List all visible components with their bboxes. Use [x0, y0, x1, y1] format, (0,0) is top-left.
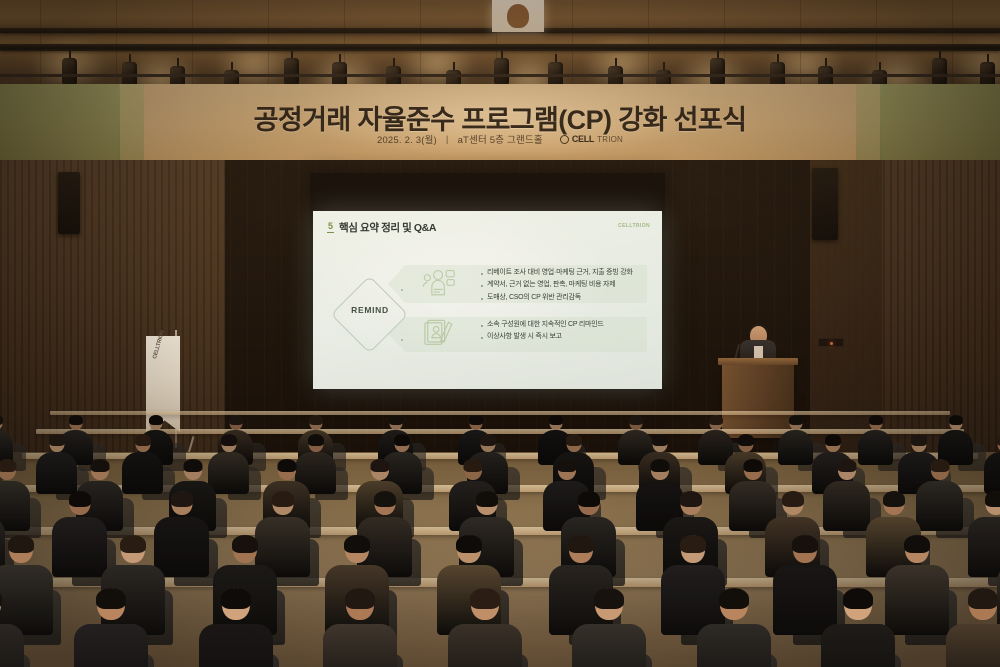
- audience-hair: [680, 491, 702, 507]
- audience-hair: [968, 588, 998, 609]
- audience-member: [52, 491, 107, 577]
- audience-torso: [323, 624, 397, 667]
- audience-hair: [825, 434, 841, 446]
- audience-hair: [69, 491, 91, 507]
- audience-torso: [984, 452, 1000, 494]
- audience-torso: [916, 481, 963, 531]
- slide-bullet: 계약서, 근거 없는 영업, 판촉, 마케팅 비용 자제: [481, 281, 633, 290]
- slide-bullet: 이상사항 발생 시 즉시 보고: [481, 333, 604, 342]
- bullet-dot-icon: [481, 273, 483, 275]
- indicator-light-icon: [818, 338, 844, 347]
- audience-hair: [997, 434, 1000, 446]
- audience-member: [916, 459, 963, 531]
- audience-hair: [883, 491, 905, 507]
- speaker-icon: [58, 172, 80, 234]
- audience-hair: [680, 535, 706, 553]
- audience-torso: [778, 430, 813, 465]
- audience-member: [984, 434, 1000, 494]
- audience-hair: [309, 415, 323, 425]
- slide-bullet-group-2: 소속 구성원에 대한 지속적인 CP 리마인드이상사항 발생 시 즉시 보고: [481, 321, 604, 346]
- audience-member: [74, 588, 148, 667]
- audience-hair: [221, 434, 237, 446]
- audience-hair: [557, 459, 576, 472]
- slide-title: 핵심 요약 정리 및 Q&A: [339, 220, 436, 235]
- audience-hair: [183, 459, 202, 472]
- bullet-dot-icon: [481, 285, 483, 287]
- audience-hair: [837, 459, 856, 472]
- audience-hair: [985, 491, 1000, 507]
- audience-hair: [0, 588, 2, 609]
- audience-hair: [911, 434, 927, 446]
- banner-separator: |: [446, 134, 449, 145]
- ceiling: [0, 0, 1000, 96]
- audience-torso: [448, 624, 522, 667]
- audience-member: [0, 588, 24, 667]
- audience-hair: [389, 415, 403, 425]
- audience-hair: [566, 434, 582, 446]
- audience-torso: [946, 624, 1000, 667]
- audience-torso: [821, 624, 895, 667]
- audience-member: [697, 588, 771, 667]
- audience-torso: [823, 481, 870, 531]
- bullet-text: 리베이트 조사 대비 영업·마케팅 근거, 지출 증빙 강화: [487, 269, 633, 278]
- speaker-icon: [812, 168, 838, 240]
- audience-hair: [578, 491, 600, 507]
- wall-left: [0, 160, 232, 490]
- audience-hair: [709, 415, 723, 425]
- podium-top: [718, 358, 798, 365]
- audience-hair: [69, 415, 83, 425]
- audience-member: [36, 434, 77, 494]
- audience-torso: [968, 517, 1000, 577]
- audience-member: [778, 415, 813, 465]
- audience-member: [199, 588, 273, 667]
- audience-member: [572, 588, 646, 667]
- audience-hair: [949, 415, 963, 425]
- slide-bullet-group-1: 리베이트 조사 대비 영업·마케팅 근거, 지출 증빙 강화계약서, 근거 없는…: [481, 269, 633, 306]
- audience-hair: [629, 415, 643, 425]
- audience-hair: [229, 415, 243, 425]
- slide-section-number: 5: [327, 222, 334, 233]
- audience-hair: [789, 415, 803, 425]
- audience-hair: [470, 588, 500, 609]
- connector-dot: [401, 289, 403, 291]
- audience-hair: [308, 434, 324, 446]
- slide-bullet: 리베이트 조사 대비 영업·마케팅 근거, 지출 증빙 강화: [481, 269, 633, 278]
- circle-mark-icon: [560, 135, 569, 144]
- audience-torso: [572, 624, 646, 667]
- audience-hair: [480, 434, 496, 446]
- people-discussion-icon: [421, 267, 457, 301]
- audience-hair: [568, 535, 594, 553]
- sponsor-name: CELL: [572, 134, 594, 144]
- event-banner: 공정거래 자율준수 프로그램(CP) 강화 선포식 2025. 2. 3(월) …: [0, 84, 1000, 160]
- audience-member: [946, 588, 1000, 667]
- audience-torso: [74, 624, 148, 667]
- bullet-text: 이상사항 발생 시 즉시 보고: [487, 333, 562, 342]
- audience-hair: [345, 588, 375, 609]
- audience-torso: [36, 452, 77, 494]
- auditorium-photo: 공정거래 자율준수 프로그램(CP) 강화 선포식 2025. 2. 3(월) …: [0, 0, 1000, 667]
- banner-bottom-rail: [0, 74, 1000, 77]
- audience-member: [823, 459, 870, 531]
- bullet-dot-icon: [481, 337, 483, 339]
- audience-torso: [697, 624, 771, 667]
- audience-hair: [96, 588, 126, 609]
- audience-member: [858, 415, 893, 465]
- bullet-dot-icon: [481, 325, 483, 327]
- audience-hair: [149, 415, 163, 425]
- audience-hair: [743, 459, 762, 472]
- bullet-text: 도매상, CSO의 CP 위반 관리감독: [487, 294, 581, 303]
- slide-bullet: 도매상, CSO의 CP 위반 관리감독: [481, 294, 633, 303]
- audience-torso: [122, 452, 163, 494]
- audience-member: [0, 415, 13, 465]
- audience-hair: [374, 491, 396, 507]
- audience-hair: [469, 415, 483, 425]
- audience-hair: [930, 459, 949, 472]
- audience-hair: [394, 434, 410, 446]
- audience-hair: [0, 415, 3, 425]
- slide-logo: CELLTRION: [618, 223, 650, 229]
- slide-header: 5 핵심 요약 정리 및 Q&A: [327, 220, 436, 235]
- audience-hair: [221, 588, 251, 609]
- audience-member: [323, 588, 397, 667]
- audience-torso: [199, 624, 273, 667]
- connector-dot: [401, 339, 403, 341]
- banner-location: aT센터 5층 그랜드홀: [458, 132, 543, 146]
- bullet-text: 계약서, 근거 없는 영업, 판촉, 마케팅 비용 자제: [487, 281, 615, 290]
- audience-hair: [90, 459, 109, 472]
- audience-member: [821, 588, 895, 667]
- slide-bullet: 소속 구성원에 대한 지속적인 CP 리마인드: [481, 321, 604, 330]
- audience-hair: [594, 588, 624, 609]
- audience-hair: [650, 459, 669, 472]
- audience-hair: [738, 434, 754, 446]
- audience-hair: [549, 415, 563, 425]
- banner-date: 2025. 2. 3(월): [377, 132, 437, 146]
- audience-hair: [476, 491, 498, 507]
- ceiling-emblem-panel: [492, 0, 544, 32]
- audience-hair: [792, 535, 818, 553]
- audience-hair: [719, 588, 749, 609]
- audience-hair: [171, 491, 193, 507]
- bullet-text: 소속 구성원에 대한 지속적인 CP 리마인드: [487, 321, 604, 330]
- conference-desk: [50, 411, 950, 415]
- audience-hair: [120, 535, 146, 553]
- audience-hair: [652, 434, 668, 446]
- audience-member: [938, 415, 973, 465]
- audience-hair: [277, 459, 296, 472]
- audience-torso: [52, 517, 107, 577]
- audience-hair: [49, 434, 65, 446]
- document-pen-icon: [423, 319, 455, 349]
- audience-hair: [843, 588, 873, 609]
- audience-hair: [370, 459, 389, 472]
- audience-hair: [8, 535, 34, 553]
- bullet-dot-icon: [481, 298, 483, 300]
- audience-hair: [344, 535, 370, 553]
- audience-hair: [463, 459, 482, 472]
- audience-hair: [456, 535, 482, 553]
- audience-torso: [0, 624, 24, 667]
- sponsor-suffix: TRION: [597, 135, 623, 144]
- audience-hair: [869, 415, 883, 425]
- audience-member: [968, 491, 1000, 577]
- audience-hair: [272, 491, 294, 507]
- presentation-slide: 5 핵심 요약 정리 및 Q&A CELLTRION REMIND: [313, 211, 662, 389]
- audience-member: [448, 588, 522, 667]
- audience-hair: [135, 434, 151, 446]
- remind-badge-label: REMIND: [339, 305, 401, 315]
- audience-hair: [232, 535, 258, 553]
- banner-subtitle: 2025. 2. 3(월) | aT센터 5층 그랜드홀 CELL TRION: [0, 132, 1000, 146]
- audience-member: [122, 434, 163, 494]
- audience-hair: [782, 491, 804, 507]
- banner-sponsor-logo: CELL TRION: [560, 134, 623, 144]
- audience-hair: [0, 459, 16, 472]
- audience-hair: [904, 535, 930, 553]
